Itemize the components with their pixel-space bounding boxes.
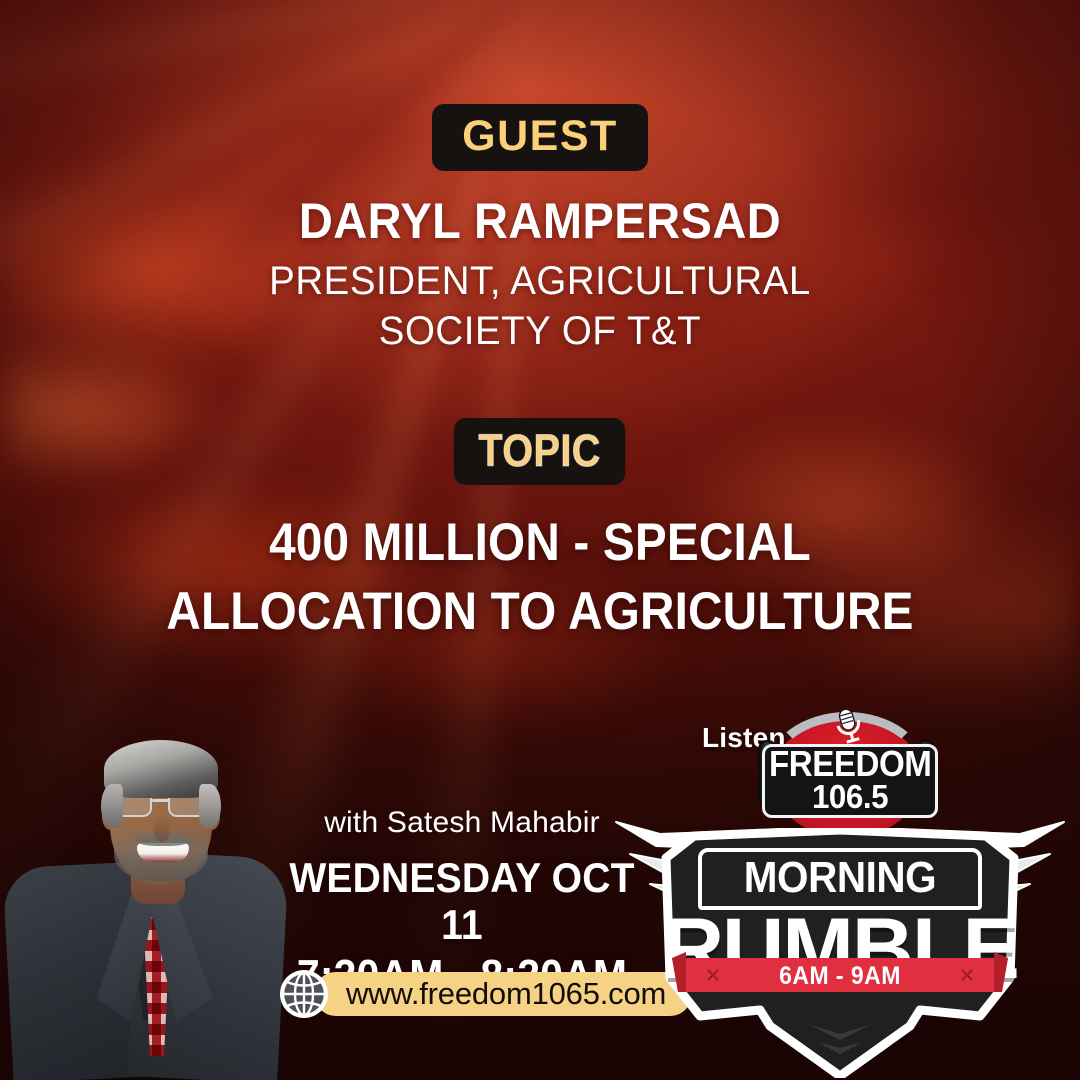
show-hours: 6AM - 9AM — [685, 962, 994, 991]
guest-title-line-2: SOCIETY OF T&T — [22, 307, 1059, 357]
nose — [154, 816, 170, 842]
glasses-bridge — [152, 799, 170, 802]
guest-section: GUEST DARYL RAMPERSAD PRESIDENT, AGRICUL… — [0, 104, 1080, 356]
show-name-top: MORNING — [709, 855, 970, 901]
microphone-icon — [832, 708, 866, 748]
guest-badge: GUEST — [432, 104, 648, 171]
guest-name: DARYL RAMPERSAD — [32, 195, 1047, 248]
hair-side-left — [101, 784, 123, 828]
hair-side-right — [199, 784, 221, 828]
air-date: WEDNESDAY OCT 11 — [267, 854, 658, 948]
topic-badge: TOPIC — [454, 418, 626, 485]
station-frequency: 106.5 — [766, 780, 933, 813]
station-name: FREEDOM — [769, 746, 931, 782]
guest-title-line-1: PRESIDENT, AGRICULTURAL — [22, 257, 1059, 307]
station-logo-lockup: Listen to — [620, 700, 1060, 1080]
topic-line-2: ALLOCATION TO AGRICULTURE — [54, 580, 1026, 645]
guest-portrait — [0, 690, 298, 1080]
promo-poster: GUEST DARYL RAMPERSAD PRESIDENT, AGRICUL… — [0, 0, 1080, 1080]
host-line: with Satesh Mahabir — [252, 806, 672, 840]
topic-section: TOPIC 400 MILLION - SPECIAL ALLOCATION T… — [0, 418, 1080, 644]
topic-line-1: 400 MILLION - SPECIAL — [54, 511, 1026, 576]
globe-icon — [278, 968, 330, 1020]
